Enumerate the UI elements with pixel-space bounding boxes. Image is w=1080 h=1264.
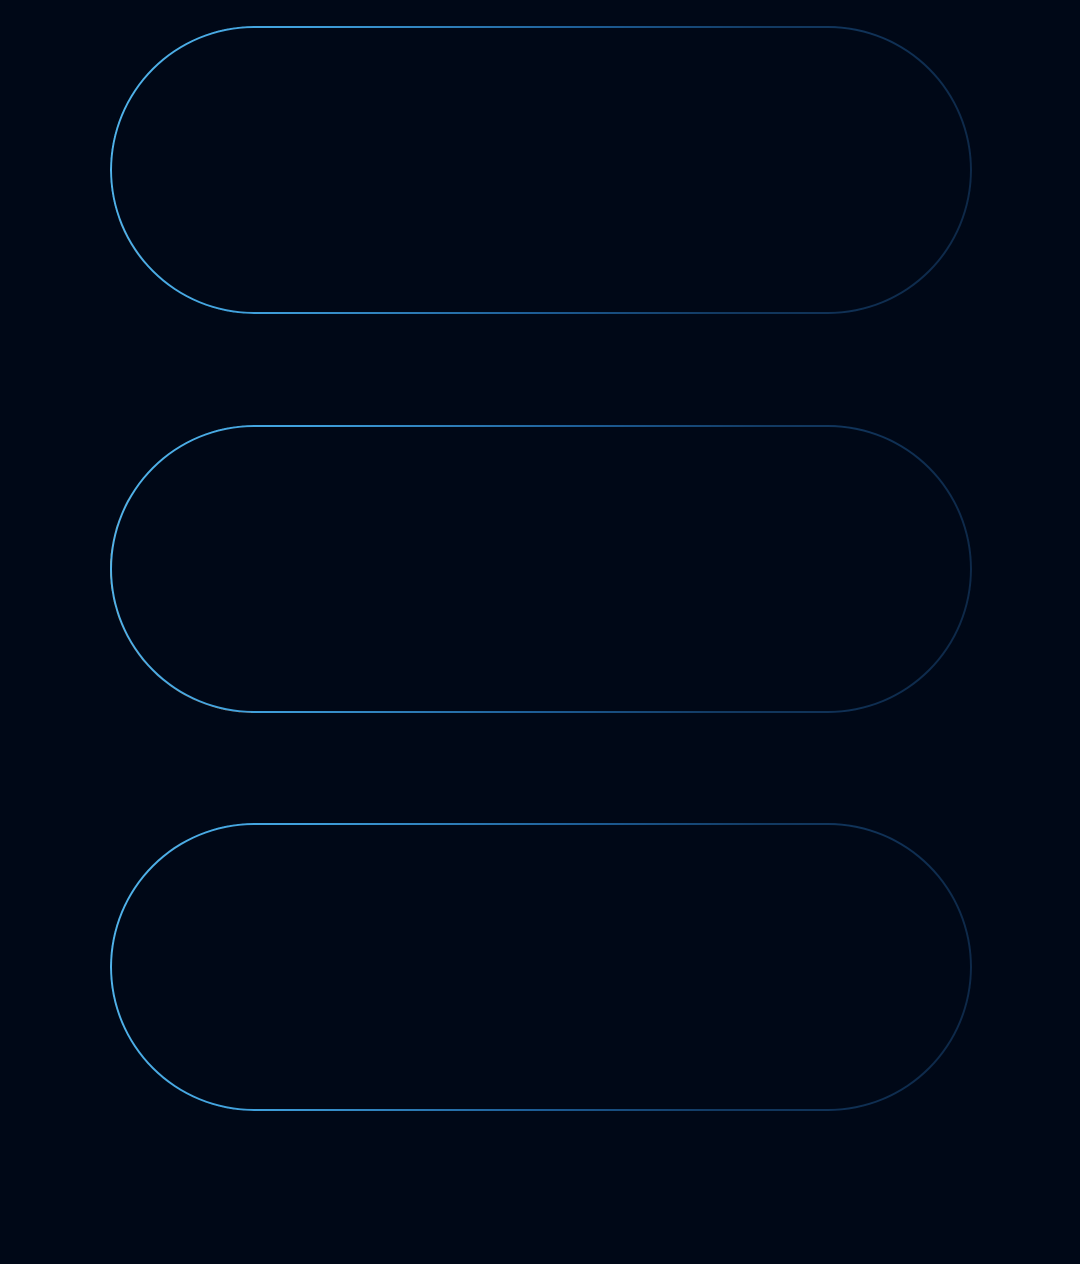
feature-headline: 离心式风轮 bbox=[590, 870, 972, 920]
product-feature-page: 强悍内核 40全铜滚珠电机 升温快寿命长 bbox=[0, 0, 1080, 1264]
feature-benefit: 风量大吹风远 bbox=[590, 1024, 972, 1065]
accent-divider bbox=[590, 949, 664, 952]
feature-spec: 19CM 离心式风轮 bbox=[590, 978, 972, 1019]
stator-coil bbox=[110, 218, 159, 265]
housing-screw bbox=[118, 999, 144, 1025]
feature-card-motor: 强悍内核 40全铜滚珠电机 升温快寿命长 bbox=[110, 26, 972, 314]
feature-benefit: 升温快寿命长 bbox=[590, 227, 972, 268]
feature-card-fan: 离心式风轮 19CM 离心式风轮 风量大吹风远 bbox=[110, 823, 972, 1111]
feature-benefit: 强灌式速热 bbox=[590, 626, 972, 667]
feature-image-fan bbox=[110, 823, 528, 1111]
accent-divider bbox=[590, 551, 664, 554]
housing-screw bbox=[168, 841, 194, 867]
feature-text-panel-fan: 离心式风轮 19CM 离心式风轮 风量大吹风远 bbox=[528, 823, 972, 1111]
feature-spec: 40全铜滚珠电机 bbox=[590, 181, 972, 222]
feature-text-panel-ptc: 戴森同类芯片 3000W陶瓷PTC 强灌式速热 bbox=[528, 425, 972, 713]
centrifugal-fan-wheel bbox=[214, 853, 450, 1089]
feature-text-panel-motor: 强悍内核 40全铜滚珠电机 升温快寿命长 bbox=[528, 26, 972, 314]
ptc-element-stack bbox=[110, 425, 528, 713]
feature-headline: 强悍内核 bbox=[590, 73, 972, 123]
feature-image-ptc bbox=[110, 425, 528, 713]
feature-card-ptc: 戴森同类芯片 3000W陶瓷PTC 强灌式速热 bbox=[110, 425, 972, 713]
accent-divider bbox=[590, 152, 664, 155]
feature-headline: 戴森同类芯片 bbox=[590, 472, 972, 522]
feature-spec: 3000W陶瓷PTC bbox=[590, 580, 972, 621]
hub-bump bbox=[324, 928, 341, 950]
feature-image-motor bbox=[110, 26, 528, 314]
fan-hub bbox=[277, 916, 387, 1026]
fan-center-screw bbox=[323, 962, 341, 980]
housing-screw bbox=[478, 1061, 504, 1087]
